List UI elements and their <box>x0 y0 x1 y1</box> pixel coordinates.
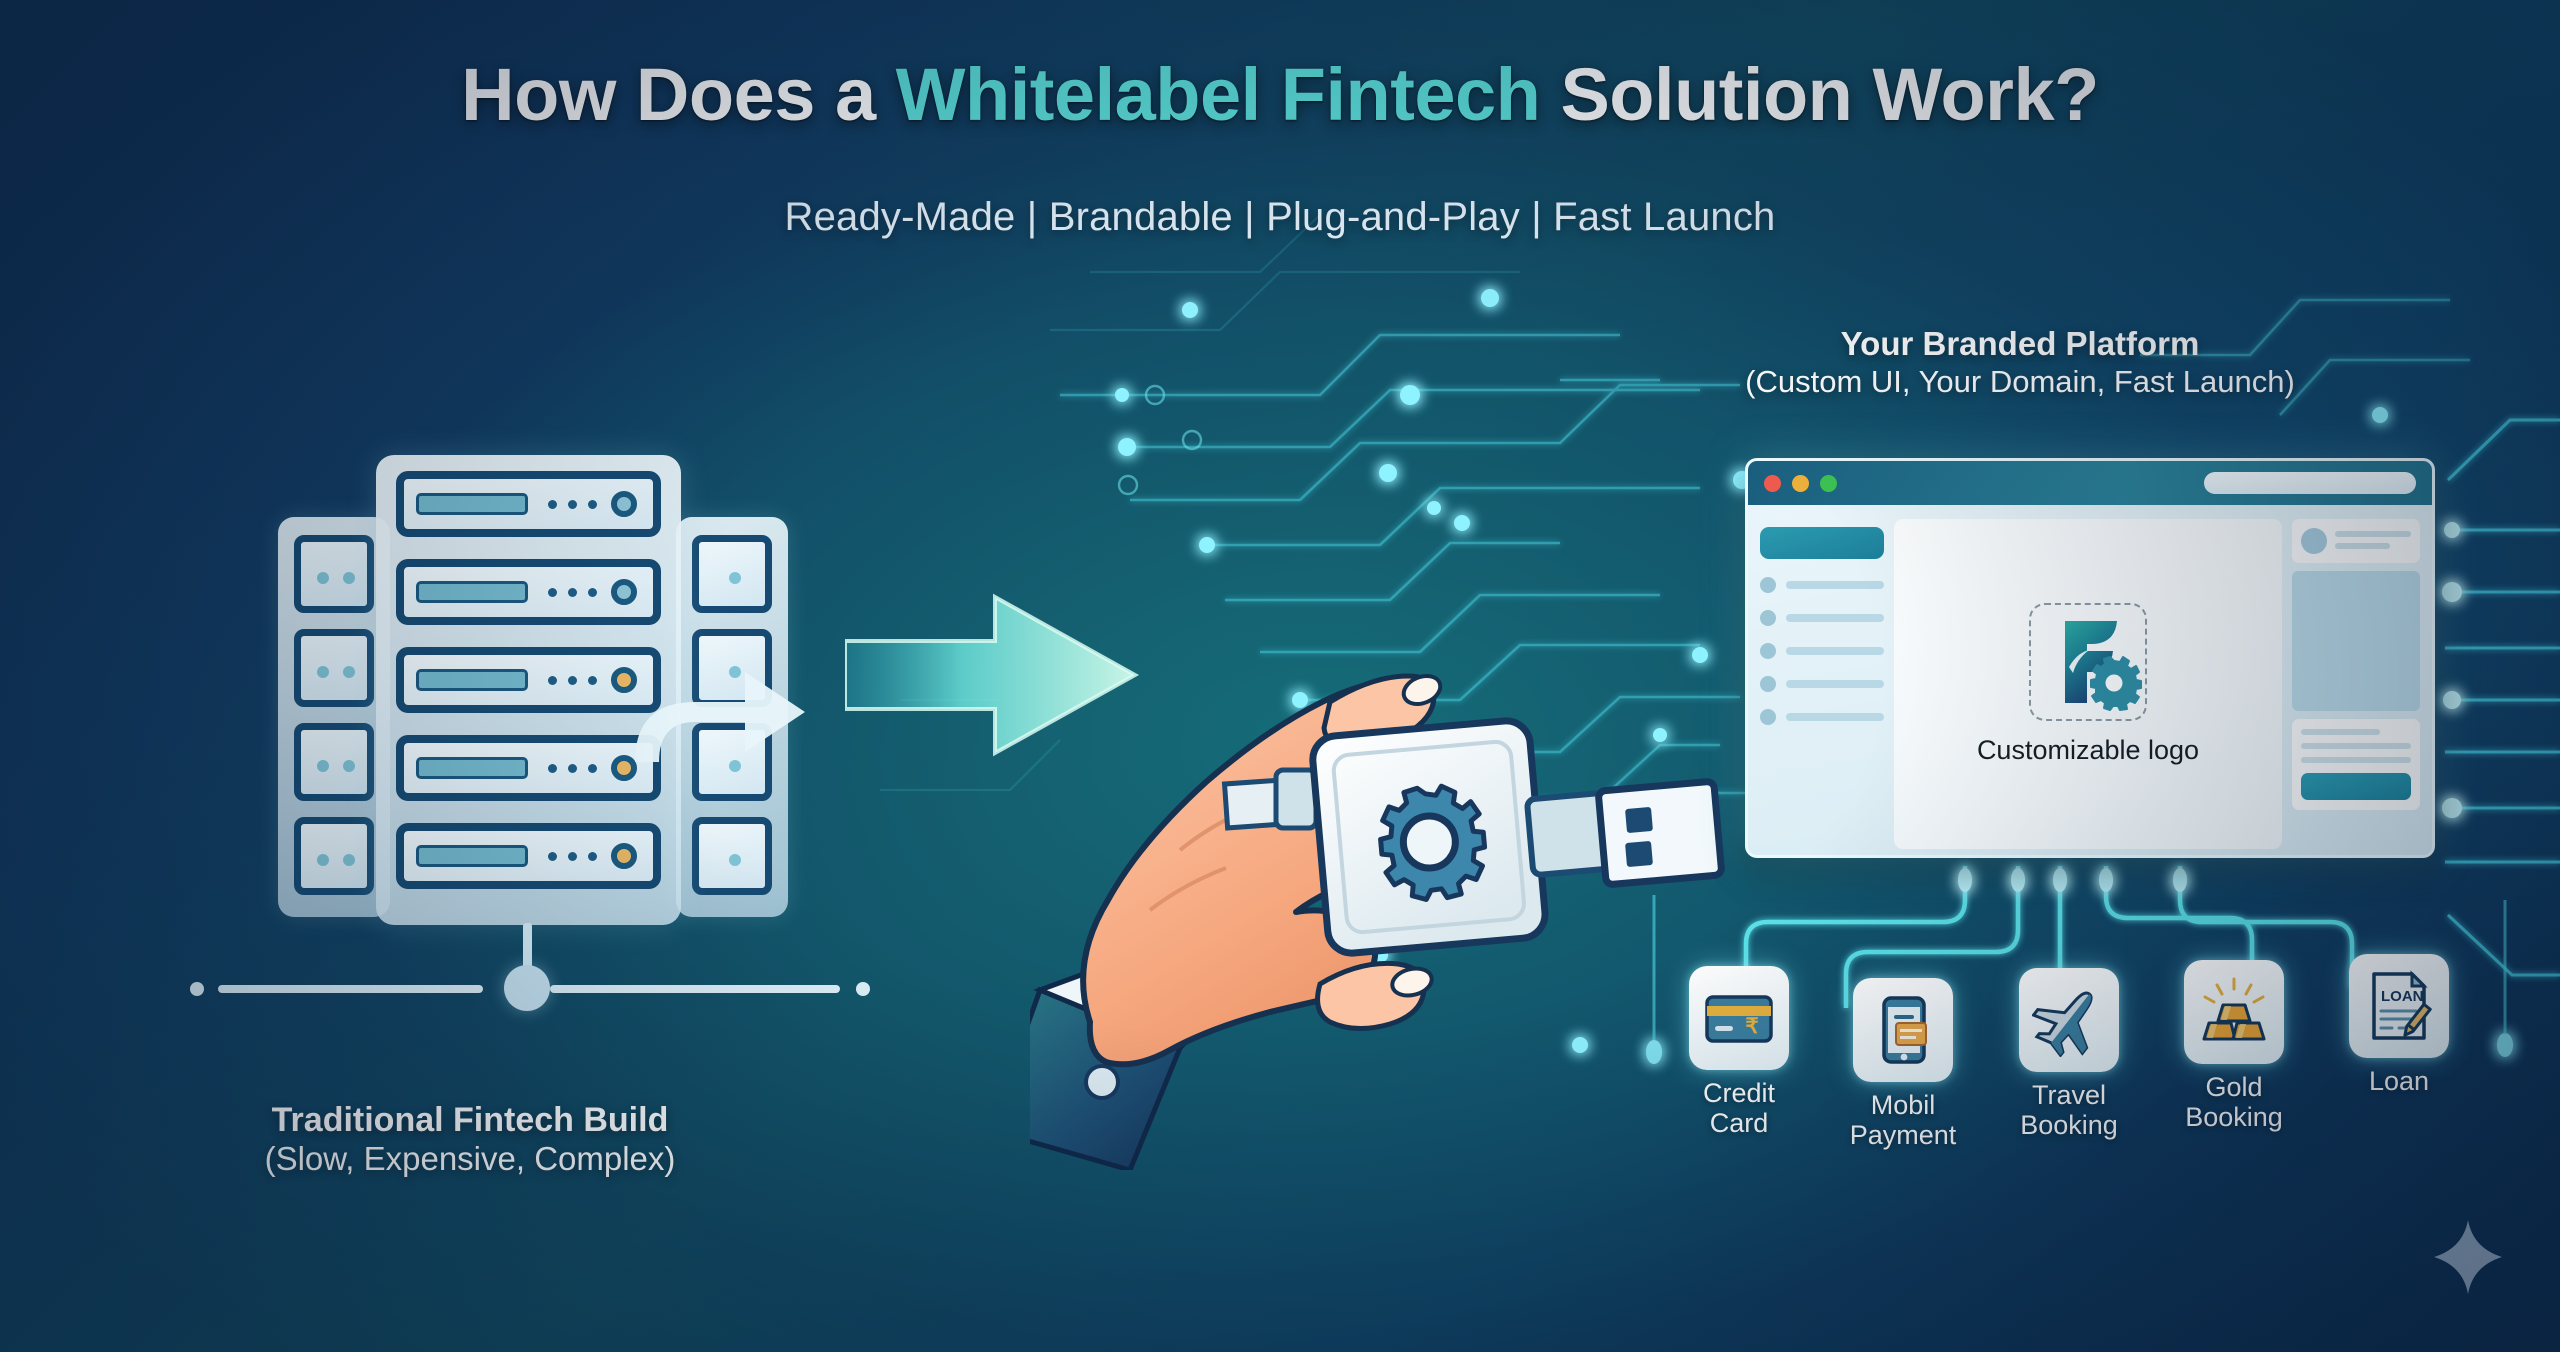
service-item-travel-booking[interactable]: TravelBooking <box>2010 968 2128 1140</box>
credit-card-icon: ₹ <box>1702 981 1776 1055</box>
service-label: MobilPayment <box>1844 1091 1962 1150</box>
server-unit <box>396 823 661 889</box>
sidebar-item-icon <box>1760 709 1776 725</box>
close-icon[interactable] <box>1764 475 1781 492</box>
profile-card <box>2292 519 2420 563</box>
four-point-star-icon <box>2432 1218 2504 1296</box>
browser-body: Customizable logo <box>1748 505 2432 858</box>
title-part-1: How Does a <box>461 53 896 136</box>
title-accent: Whitelabel Fintech <box>896 53 1541 136</box>
server-unit <box>396 647 661 713</box>
service-tile: ₹ <box>1689 966 1789 1070</box>
url-bar-input[interactable] <box>2204 472 2416 494</box>
browser-right-panel <box>2292 519 2420 849</box>
sidebar-item[interactable] <box>1760 577 1884 593</box>
left-caption-title: Traditional Fintech Build <box>120 1100 820 1140</box>
service-tile: LOAN <box>2349 954 2449 1058</box>
rack-side-left <box>278 517 390 917</box>
sidebar-item-icon <box>1760 610 1776 626</box>
service-item-credit-card[interactable]: ₹ CreditCard <box>1680 966 1798 1138</box>
sidebar-item[interactable] <box>1760 610 1884 626</box>
service-tile <box>2184 960 2284 1064</box>
service-icons-row: ₹ CreditCard MobilPayment <box>1680 960 2540 1190</box>
minimize-icon[interactable] <box>1792 475 1809 492</box>
right-caption: Your Branded Platform (Custom UI, Your D… <box>1560 325 2480 401</box>
svg-text:₹: ₹ <box>1745 1015 1758 1038</box>
right-caption-title: Your Branded Platform <box>1560 325 2480 364</box>
gold-bars-icon <box>2197 975 2271 1049</box>
sidebar-item[interactable] <box>1760 676 1884 692</box>
branded-platform-browser-window[interactable]: Customizable logo <box>1745 458 2435 858</box>
sidebar-item-icon <box>1760 577 1776 593</box>
service-item-gold-booking[interactable]: GoldBooking <box>2175 960 2293 1132</box>
left-caption-detail: (Slow, Expensive, Complex) <box>120 1140 820 1179</box>
sidebar-item-icon <box>1760 676 1776 692</box>
server-unit <box>396 471 661 537</box>
title-part-2: Solution Work? <box>1540 53 2098 136</box>
status-led <box>611 491 637 517</box>
service-label: GoldBooking <box>2175 1073 2293 1132</box>
maximize-icon[interactable] <box>1820 475 1837 492</box>
logo-caption: Customizable logo <box>1977 735 2199 766</box>
logo-dropzone[interactable] <box>2029 603 2147 721</box>
cta-button[interactable] <box>2301 773 2411 800</box>
browser-titlebar <box>1748 461 2432 505</box>
server-rack-icon <box>280 455 800 975</box>
airplane-icon <box>2032 983 2106 1057</box>
left-caption: Traditional Fintech Build (Slow, Expensi… <box>120 1100 820 1179</box>
service-label: Loan <box>2340 1067 2458 1097</box>
usb-connector-icon <box>1527 781 1722 885</box>
content-card <box>2292 719 2420 810</box>
service-label: CreditCard <box>1680 1079 1798 1138</box>
right-caption-detail: (Custom UI, Your Domain, Fast Launch) <box>1560 364 2480 401</box>
page-title: How Does a Whitelabel Fintech Solution W… <box>0 52 2560 137</box>
loan-document-icon: LOAN <box>2362 969 2436 1043</box>
page-subtitle: Ready-Made | Brandable | Plug-and-Play |… <box>0 195 2560 240</box>
mobile-payment-icon <box>1866 993 1940 1067</box>
browser-sidebar <box>1760 519 1884 849</box>
avatar <box>2301 528 2327 554</box>
browser-main-content: Customizable logo <box>1894 519 2282 849</box>
service-tile <box>1853 978 1953 1082</box>
service-tile <box>2019 968 2119 1072</box>
server-unit <box>396 559 661 625</box>
loan-doc-text: LOAN <box>2381 988 2424 1005</box>
status-led <box>611 843 637 869</box>
service-item-mobile-payment[interactable]: MobilPayment <box>1844 978 1962 1150</box>
service-label: TravelBooking <box>2010 1081 2128 1140</box>
sidebar-item-icon <box>1760 643 1776 659</box>
image-placeholder <box>2292 571 2420 711</box>
sidebar-item[interactable] <box>1760 643 1884 659</box>
sidebar-item[interactable] <box>1760 709 1884 725</box>
service-item-loan[interactable]: LOAN Loan <box>2340 954 2458 1097</box>
server-unit <box>396 735 661 801</box>
curved-arrow-right-icon <box>625 640 810 770</box>
hand-holding-module-icon <box>1030 570 1770 1170</box>
infographic-canvas: How Does a Whitelabel Fintech Solution W… <box>0 0 2560 1352</box>
rack-baseline <box>190 985 870 993</box>
sidebar-item-active[interactable] <box>1760 527 1884 559</box>
gear-icon <box>2091 657 2141 710</box>
status-led <box>611 579 637 605</box>
